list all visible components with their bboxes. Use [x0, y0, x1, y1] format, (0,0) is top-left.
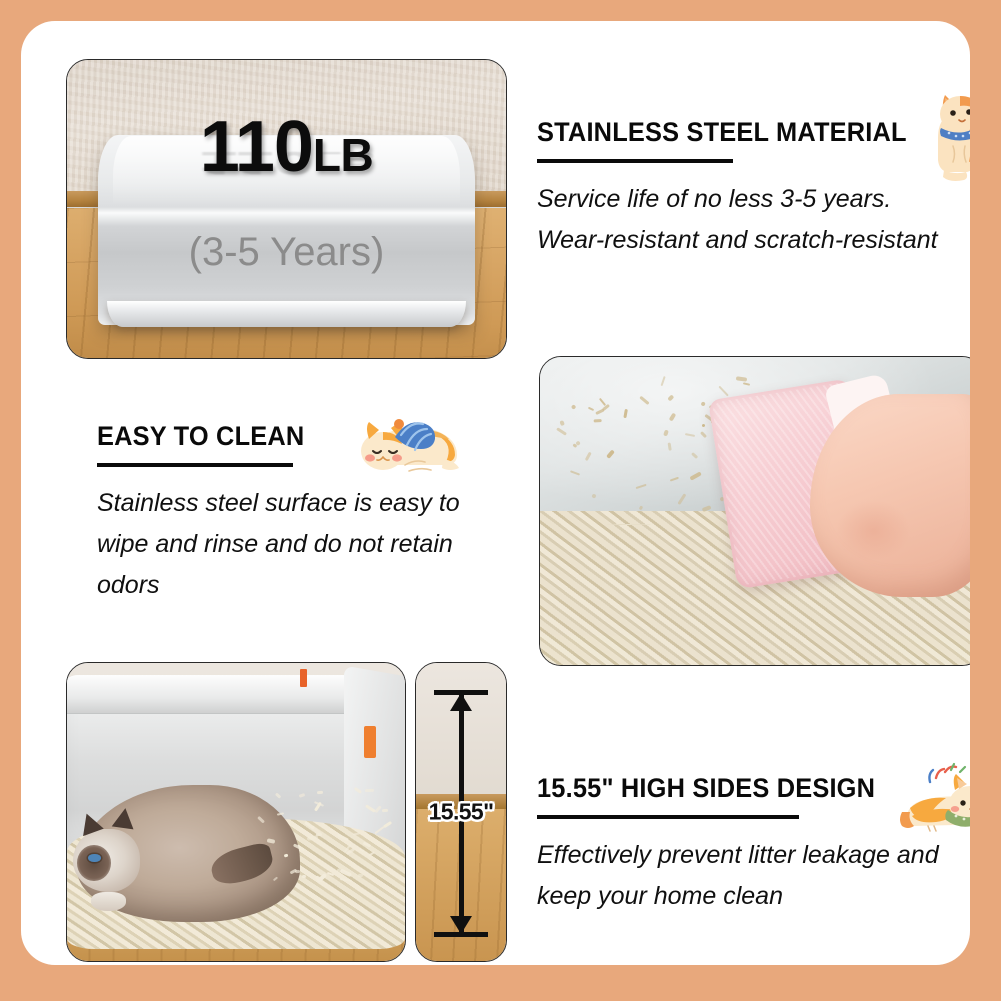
sleeping-cat-with-blue-nightcap-icon [339, 403, 465, 479]
cat-eye [88, 854, 100, 862]
box-rim-lip [107, 301, 466, 328]
section-body: Service life of no less 3-5 years. Wear-… [537, 179, 957, 261]
section-body: Stainless steel surface is easy to wipe … [97, 483, 497, 606]
weight-capacity-label: 110LB [67, 111, 506, 183]
sitting-cat-with-blue-bandana-icon [914, 76, 970, 184]
content-card: 110LB 110LB (3-5 Years) [21, 21, 970, 965]
section-heading: 15.55" HIGH SIDES DESIGN [537, 773, 941, 804]
arrow-up-icon [450, 693, 472, 711]
dimension-callout: 15.55" [415, 662, 507, 962]
photo-high-sides-cat [66, 662, 406, 962]
weight-unit: LB [313, 129, 373, 181]
infographic-page: 110LB 110LB (3-5 Years) [0, 0, 1001, 1001]
section-body: Effectively prevent litter leakage and k… [537, 835, 967, 917]
weight-value: 110 [200, 107, 313, 187]
lying-cat-with-green-scarf-icon [898, 756, 970, 838]
heading-underline [537, 159, 733, 163]
orange-clip-icon [364, 726, 376, 759]
photo-weight-capacity: 110LB 110LB (3-5 Years) [66, 59, 507, 359]
cat-front-leg [91, 892, 127, 911]
section-heading: STAINLESS STEEL MATERIAL [537, 117, 932, 148]
cat-face-mask [77, 845, 110, 881]
kicked-litter-spray [256, 788, 391, 889]
heading-underline [97, 463, 293, 467]
litter-box-rim [66, 675, 385, 714]
cat-ear-right [112, 807, 137, 830]
arrow-down-icon [450, 916, 472, 934]
section-stainless-steel-material: STAINLESS STEEL MATERIAL Service life of… [537, 117, 957, 261]
heading-underline [537, 815, 799, 819]
photo-easy-to-clean [539, 356, 970, 666]
orange-clip-secondary-icon [300, 669, 307, 687]
dimension-value-label: 15.55" [429, 799, 494, 826]
service-life-label: (3-5 Years) [67, 230, 506, 275]
